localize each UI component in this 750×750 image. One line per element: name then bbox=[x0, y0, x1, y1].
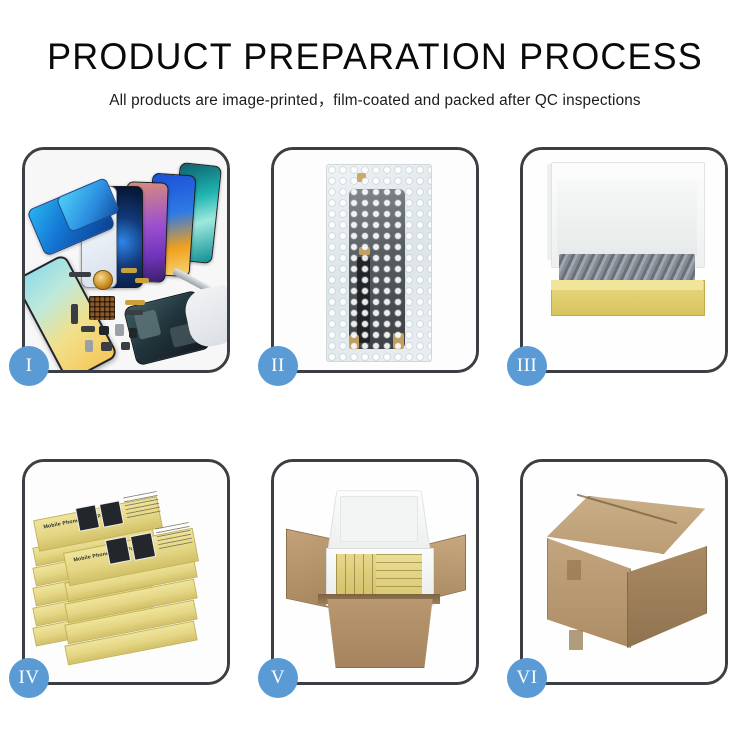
process-step-5[interactable]: V bbox=[271, 459, 479, 685]
small-part bbox=[121, 268, 137, 273]
carton-front-panel bbox=[320, 598, 440, 668]
page-subtitle: All products are image-printed，film-coat… bbox=[0, 88, 750, 110]
step-4-image: Mobile Phone Spare Parts Mobile Phone Sp… bbox=[25, 462, 227, 682]
step-badge-1: I bbox=[9, 346, 49, 386]
bubble-wrap-bag bbox=[326, 164, 432, 362]
step-1-image bbox=[25, 150, 227, 370]
box-lid-inner bbox=[557, 180, 697, 256]
page-title: PRODUCT PREPARATION PROCESS bbox=[11, 38, 739, 77]
box-printed-phone-image bbox=[105, 536, 131, 565]
carton-tape-tab bbox=[569, 630, 583, 650]
box-printed-phone-image bbox=[99, 500, 124, 528]
step-badge-4: IV bbox=[9, 658, 49, 698]
step-badge-6: VI bbox=[507, 658, 547, 698]
carton-tape-tab bbox=[567, 560, 581, 580]
small-part bbox=[99, 326, 109, 335]
small-part bbox=[101, 342, 112, 351]
small-part bbox=[129, 328, 137, 338]
small-part bbox=[85, 340, 93, 352]
step-3-image bbox=[523, 150, 725, 370]
process-step-4[interactable]: Mobile Phone Spare Parts Mobile Phone Sp… bbox=[22, 459, 230, 685]
step-badge-5: V bbox=[258, 658, 298, 698]
small-part bbox=[115, 324, 124, 336]
step-badge-3: III bbox=[507, 346, 547, 386]
process-step-1[interactable]: I bbox=[22, 147, 230, 373]
speaker-coil-part bbox=[93, 270, 113, 290]
step-badge-2: II bbox=[258, 346, 298, 386]
step-5-image bbox=[274, 462, 476, 682]
small-part bbox=[121, 342, 130, 350]
small-part bbox=[135, 278, 149, 283]
foam-box-lid-inner bbox=[340, 496, 418, 542]
box-stack: Mobile Phone Spare Parts Mobile Phone Sp… bbox=[31, 478, 227, 674]
step-6-image bbox=[523, 462, 725, 682]
small-part bbox=[71, 304, 78, 324]
step-2-image bbox=[274, 150, 476, 370]
box-printed-phone-image bbox=[130, 532, 156, 561]
process-step-3[interactable]: III bbox=[520, 147, 728, 373]
yellow-boxes-inside bbox=[336, 554, 422, 596]
small-part bbox=[125, 300, 145, 305]
small-part bbox=[125, 310, 143, 315]
page-header: PRODUCT PREPARATION PROCESS All products… bbox=[0, 0, 750, 110]
bubble-texture bbox=[327, 165, 431, 361]
small-part bbox=[69, 272, 91, 277]
chip-array-part bbox=[89, 296, 115, 320]
small-part bbox=[81, 326, 95, 332]
yellow-box-tray-edge bbox=[551, 280, 703, 290]
process-step-grid: I II III bbox=[22, 147, 728, 685]
process-step-2[interactable]: II bbox=[271, 147, 479, 373]
process-step-6[interactable]: VI bbox=[520, 459, 728, 685]
box-printed-phone-image bbox=[75, 504, 100, 532]
